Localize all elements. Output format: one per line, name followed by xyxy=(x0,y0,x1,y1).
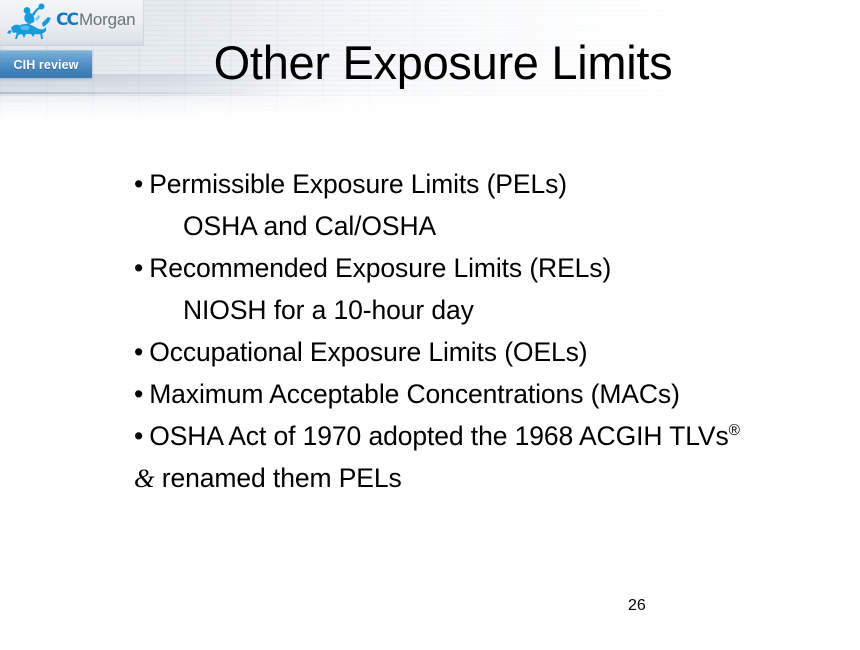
logo-plate: CCMorgan xyxy=(0,0,144,46)
ccmorgan-equestrian-logo-icon xyxy=(6,3,54,43)
wordmark-morgan: Morgan xyxy=(79,10,135,29)
list-item-sub-label: OSHA and Cal/OSHA xyxy=(183,211,436,241)
list-item-label: Permissible Exposure Limits (PELs) xyxy=(149,169,567,199)
wordmark-cc: CC xyxy=(56,10,77,30)
list-item-sub-label: NIOSH for a 10-hour day xyxy=(183,295,474,325)
ampersand-glyph: & xyxy=(134,463,155,493)
bullet-list: •Permissible Exposure Limits (PELs) OSHA… xyxy=(134,163,794,499)
list-item-label: Occupational Exposure Limits (OELs) xyxy=(149,337,587,367)
page-number: 26 xyxy=(628,597,646,615)
bullet-icon: • xyxy=(134,247,143,289)
page-title: Other Exposure Limits xyxy=(148,38,738,87)
list-item-sub: NIOSH for a 10-hour day xyxy=(134,289,794,331)
list-item-sub: OSHA and Cal/OSHA xyxy=(134,205,794,247)
banner-desk-edge xyxy=(0,92,268,94)
banner-bottom-fade xyxy=(0,96,860,131)
list-item-label: Recommended Exposure Limits (RELs) xyxy=(149,253,611,283)
list-item-label-part2: renamed them PELs xyxy=(162,463,402,493)
slide-canvas: CCMorgan CIH review Other Exposure Limit… xyxy=(0,0,860,650)
bullet-icon: • xyxy=(134,163,143,205)
list-item-label: Maximum Acceptable Concentrations (MACs) xyxy=(149,379,680,409)
bullet-icon: • xyxy=(134,415,143,457)
registered-trademark-icon: ® xyxy=(729,422,740,439)
list-item-label-part1: OSHA Act of 1970 adopted the 1968 ACGIH … xyxy=(149,421,728,451)
list-item: •Maximum Acceptable Concentrations (MACs… xyxy=(134,373,794,415)
cih-review-tab[interactable]: CIH review xyxy=(0,50,92,78)
ccmorgan-wordmark: CCMorgan xyxy=(56,11,135,29)
list-item: •Recommended Exposure Limits (RELs) xyxy=(134,247,794,289)
list-item: •Occupational Exposure Limits (OELs) xyxy=(134,331,794,373)
bullet-icon: • xyxy=(134,331,143,373)
list-item: •Permissible Exposure Limits (PELs) xyxy=(134,163,794,205)
cih-review-tab-label: CIH review xyxy=(14,58,79,72)
bullet-icon: • xyxy=(134,373,143,415)
list-item-trademark: •OSHA Act of 1970 adopted the 1968 ACGIH… xyxy=(134,415,759,499)
